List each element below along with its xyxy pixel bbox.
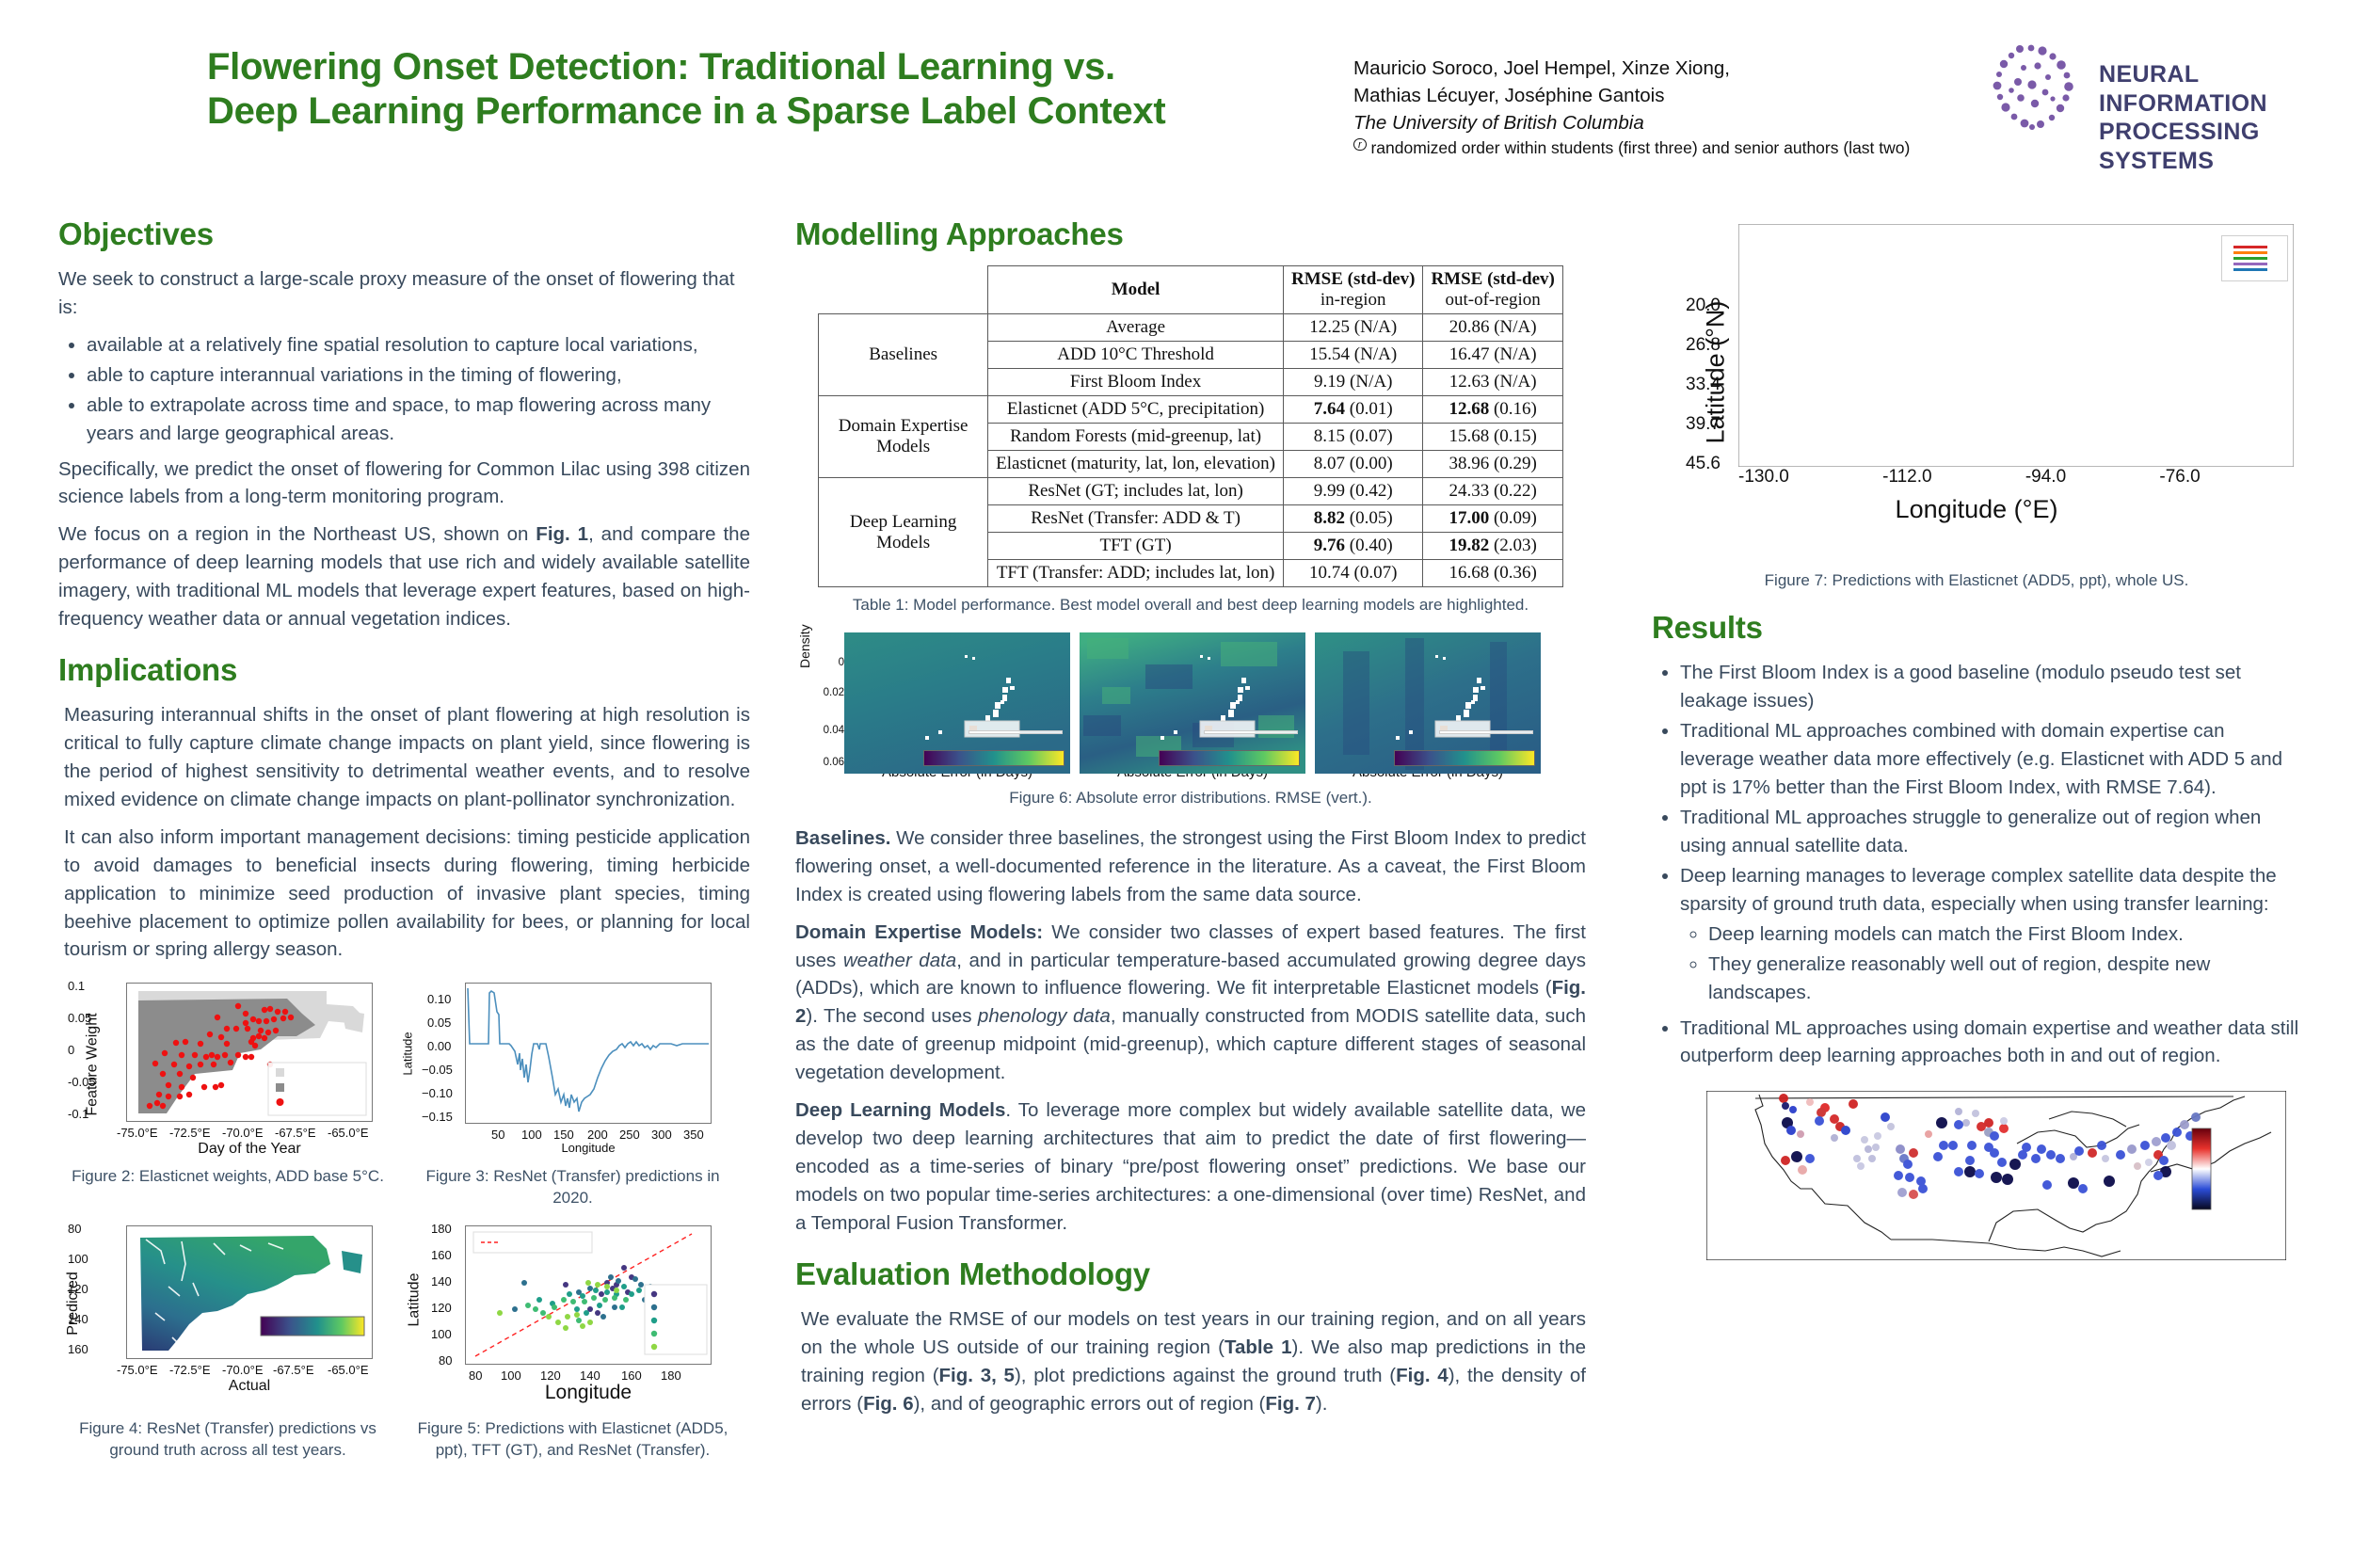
author-line-1: Mauricio Soroco, Joel Hempel, Xinze Xion… <box>1353 55 2012 82</box>
figure-row-2: Predicted 80 100 120 140 160 <box>58 1218 750 1416</box>
author-block: Mauricio Soroco, Joel Hempel, Xinze Xion… <box>1353 55 2012 160</box>
figure6-caption: Figure 7: Predictions with Elasticnet (A… <box>1652 570 2301 591</box>
list-item: They generalize reasonably well out of r… <box>1708 951 2301 1007</box>
table1-caption: Table 1: Model performance. Best model o… <box>795 595 1586 616</box>
table-cell-out-region: 17.00 (0.09) <box>1423 505 1562 533</box>
table-cell-model: ResNet (GT; includes lat, lon) <box>988 478 1284 505</box>
figure2-caption: Figure 3: ResNet (Transfer) predictions … <box>410 1166 735 1208</box>
list-item: Deep learning models can match the First… <box>1708 920 2301 949</box>
author-line-2: Mathias Lécuyer, Joséphine Gantois <box>1353 82 2012 109</box>
qr-code[interactable] <box>58 36 185 163</box>
table-cell-out-region: 16.68 (0.36) <box>1423 560 1562 587</box>
figure3-ytick: 140 <box>68 1312 88 1326</box>
neurips-dots-logo <box>1986 40 2089 143</box>
list-item: Traditional ML approaches combined with … <box>1680 717 2301 802</box>
poster-title-line2: Deep Learning Performance in a Sparse La… <box>207 89 1337 134</box>
list-item: able to extrapolate across time and spac… <box>87 392 750 448</box>
col-header-model: Model <box>988 266 1284 314</box>
table-cell-in-region: 12.25 (N/A) <box>1284 314 1423 342</box>
table-cell-out-region: 12.68 (0.16) <box>1423 396 1562 424</box>
table-cell-model: Average <box>988 314 1284 342</box>
figure5-colorbar-2 <box>1159 750 1300 766</box>
list-item: available at a relatively fine spatial r… <box>87 331 750 360</box>
table-cell-in-region: 7.64 (0.01) <box>1284 396 1423 424</box>
table-cell-model: Elasticnet (ADD 5°C, precipitation) <box>988 396 1284 424</box>
figure1-ytick: 0.05 <box>68 1011 91 1025</box>
figure1-ylabel: Feature Weight <box>85 1014 102 1116</box>
list-item: Traditional ML approaches using domain e… <box>1680 1015 2301 1071</box>
middle-column: Modelling Approaches Model RMSE (std-dev… <box>795 216 1586 1427</box>
figure1-plot-area <box>126 983 373 1122</box>
figure2-xlabel: Longitude <box>465 1141 712 1155</box>
figure5-panel3-image <box>1315 632 1541 774</box>
table-cell-model: TFT (Transfer: ADD; includes lat, lon) <box>988 560 1284 587</box>
figure1-ytick: -0.1 <box>68 1107 88 1121</box>
table-group-label: Domain Expertise Models <box>819 396 988 478</box>
figure5-panel-3: Absolute Error (in Days) <box>1315 632 1541 780</box>
figure6-legend <box>2221 235 2288 281</box>
table-cell-in-region: 8.82 (0.05) <box>1284 505 1423 533</box>
table-cell-out-region: 19.82 (2.03) <box>1423 533 1562 560</box>
figure6-ytick: 39.7 <box>1686 414 1721 435</box>
domain-expertise-paragraph: Domain Expertise Models: We consider two… <box>795 919 1586 1088</box>
figure4-ylabel: Latitude <box>406 1273 423 1327</box>
legend-item <box>2233 263 2276 265</box>
figure1-caption: Figure 2: Elasticnet weights, ADD base 5… <box>58 1166 397 1208</box>
table-row: BaselinesAverage12.25 (N/A)20.86 (N/A) <box>819 314 1563 342</box>
modelling-heading: Modelling Approaches <box>795 216 1586 252</box>
implications-heading: Implications <box>58 652 750 688</box>
neurips-line1: NEURAL INFORMATION <box>2099 60 2325 118</box>
evaluation-paragraph: We evaluate the RMSE of our models on te… <box>795 1305 1586 1418</box>
poster-header: Flowering Onset Detection: Traditional L… <box>0 0 2353 188</box>
evaluation-heading: Evaluation Methodology <box>795 1256 1586 1292</box>
figure-caption-row-2: Figure 4: ResNet (Transfer) predictions … <box>58 1414 750 1461</box>
objectives-paragraph-2: Specifically, we predict the onset of fl… <box>58 456 750 512</box>
figure7 <box>1652 1083 2301 1304</box>
figure6-ytick: 33.4 <box>1686 375 1721 395</box>
table-row: Domain Expertise ModelsElasticnet (ADD 5… <box>819 396 1563 424</box>
figure5-panel1-image <box>844 632 1070 774</box>
table-cell-model: TFT (GT) <box>988 533 1284 560</box>
list-item: Traditional ML approaches struggle to ge… <box>1680 804 2301 860</box>
figure6-plot-area <box>1738 224 2294 467</box>
figure6-ytick: 20.0 <box>1686 296 1721 316</box>
legend-item <box>2233 257 2276 260</box>
figure1-xlabel: Day of the Year <box>126 1141 373 1158</box>
table-header-row: Model RMSE (std-dev) in-region RMSE (std… <box>819 266 1563 314</box>
figure6-ytick: 45.6 <box>1686 454 1721 474</box>
figure1-ytick: 0.1 <box>68 979 85 993</box>
table-cell-out-region: 15.68 (0.15) <box>1423 424 1562 451</box>
objectives-bullet-list: available at a relatively fine spatial r… <box>58 331 750 448</box>
figure5-ytick: 0.06 <box>824 757 844 768</box>
figure5: Density 0 0.02 0.04 0.06 <box>795 632 1586 808</box>
page-title: Flowering Onset Detection: Traditional L… <box>207 45 1337 134</box>
figure3-ytick: 100 <box>68 1252 88 1266</box>
figure5-panel-2: Absolute Error (in Days) <box>1080 632 1305 780</box>
figure5-colorbar-3 <box>1394 750 1535 766</box>
table-cell-model: Elasticnet (maturity, lat, lon, elevatio… <box>988 451 1284 478</box>
list-item: Deep learning manages to leverage comple… <box>1680 862 2301 919</box>
table-cell-in-region: 8.15 (0.07) <box>1284 424 1423 451</box>
table-cell-model: ADD 10°C Threshold <box>988 342 1284 369</box>
figure2: Latitude 0.10 0.05 0.00 −0.05 −0.10 −0.1… <box>410 973 735 1161</box>
figure7-plot-area <box>1706 1091 2286 1260</box>
figure3-caption: Figure 4: ResNet (Transfer) predictions … <box>58 1418 397 1461</box>
legend-item <box>2233 268 2276 271</box>
figure1-ytick: 0 <box>68 1043 74 1057</box>
table-cell-out-region: 12.63 (N/A) <box>1423 369 1562 396</box>
figure-caption-row-1: Figure 2: Elasticnet weights, ADD base 5… <box>58 1161 750 1208</box>
figure3-ytick: 120 <box>68 1282 88 1296</box>
neurips-wordmark: NEURAL INFORMATION PROCESSING SYSTEMS <box>2099 60 2325 175</box>
neurips-logo-block: NEURAL INFORMATION PROCESSING SYSTEMS <box>1986 40 2325 143</box>
table1-wrapper: Model RMSE (std-dev) in-region RMSE (std… <box>795 265 1586 616</box>
table-row: Deep Learning ModelsResNet (GT; includes… <box>819 478 1563 505</box>
table-cell-in-region: 9.99 (0.42) <box>1284 478 1423 505</box>
table-cell-model: ResNet (Transfer: ADD & T) <box>988 505 1284 533</box>
table-cell-in-region: 15.54 (N/A) <box>1284 342 1423 369</box>
deep-learning-paragraph: Deep Learning Models. To leverage more c… <box>795 1096 1586 1238</box>
left-column: Objectives We seek to construct a large-… <box>58 216 750 1461</box>
figure4-xlabel: Longitude <box>465 1382 712 1404</box>
figure4-plot-area <box>465 1225 712 1365</box>
baselines-paragraph: Baselines. We consider three baselines, … <box>795 824 1586 909</box>
figure5-panel-1: Absolute Error (in Days) <box>844 632 1070 780</box>
table-group-label: Baselines <box>819 314 988 396</box>
col-header-in-region: RMSE (std-dev) in-region <box>1284 266 1423 314</box>
objectives-heading: Objectives <box>58 216 750 252</box>
table-cell-out-region: 16.47 (N/A) <box>1423 342 1562 369</box>
table-cell-in-region: 10.74 (0.07) <box>1284 560 1423 587</box>
results-heading: Results <box>1652 610 2301 646</box>
figure3-plot-area <box>126 1225 373 1359</box>
objectives-paragraph-1: We seek to construct a large-scale proxy… <box>58 265 750 322</box>
table-cell-out-region: 24.33 (0.22) <box>1423 478 1562 505</box>
figure3-ytick: 80 <box>68 1222 81 1236</box>
table-group-label: Deep Learning Models <box>819 478 988 587</box>
table-cell-in-region: 9.76 (0.40) <box>1284 533 1423 560</box>
poster-title-line1: Flowering Onset Detection: Traditional L… <box>207 45 1337 89</box>
figure4-caption: Figure 5: Predictions with Elasticnet (A… <box>410 1418 735 1461</box>
figure1-ytick: -0.05 <box>68 1075 96 1089</box>
figure2-ylabel: Latitude <box>401 1032 415 1076</box>
figure6: Latitude (°N) 20.0 26.8 33.4 39.7 45.6 -… <box>1652 216 2301 527</box>
affiliation: The University of British Columbia <box>1353 109 2012 136</box>
neurips-line2: PROCESSING SYSTEMS <box>2099 118 2325 175</box>
figure5-colorbar-1 <box>923 750 1064 766</box>
figure5-caption: Figure 6: Absolute error distributions. … <box>795 788 1586 808</box>
figure3: Predicted 80 100 120 140 160 <box>58 1218 397 1406</box>
figure5-ylabel: Density <box>797 625 812 669</box>
table-cell-in-region: 8.07 (0.00) <box>1284 451 1423 478</box>
figure5-ytick: 0.02 <box>824 687 844 698</box>
figure5-yticks: 0 0.02 0.04 0.06 <box>812 638 844 779</box>
figure3-xlabel: Actual <box>126 1378 373 1395</box>
list-item: The First Bloom Index is a good baseline… <box>1680 659 2301 715</box>
results-sub-bullet-list: Deep learning models can match the First… <box>1680 920 2301 1007</box>
figure1: Feature Weight 0.1 0.05 0 -0.05 -0.1 <box>58 973 397 1161</box>
figure4: Latitude 180 160 140 120 100 80 <box>410 1218 735 1416</box>
figure2-plot-area <box>465 983 712 1124</box>
legend-item <box>2233 246 2276 248</box>
objectives-paragraph-3: We focus on a region in the Northeast US… <box>58 520 750 633</box>
table-cell-model: First Bloom Index <box>988 369 1284 396</box>
table-cell-out-region: 38.96 (0.29) <box>1423 451 1562 478</box>
figure5-panel2-image <box>1080 632 1305 774</box>
right-column: Latitude (°N) 20.0 26.8 33.4 39.7 45.6 -… <box>1652 216 2301 1346</box>
author-footnote: r randomized order within students (firs… <box>1353 136 2012 160</box>
figure6-xticks: -130.0-112.0 -94.0-76.0 <box>1738 467 2294 488</box>
figure-row-1: Feature Weight 0.1 0.05 0 -0.05 -0.1 <box>58 973 750 1161</box>
list-item: able to capture interannual variations i… <box>87 361 750 390</box>
figure5-ytick: 0.04 <box>824 725 844 736</box>
col-header-out-region: RMSE (std-dev) out-of-region <box>1423 266 1562 314</box>
implications-paragraph-2: It can also inform important management … <box>58 824 750 965</box>
table-cell-model: Random Forests (mid-greenup, lat) <box>988 424 1284 451</box>
table1: Model RMSE (std-dev) in-region RMSE (std… <box>818 265 1563 587</box>
implications-paragraph-1: Measuring interannual shifts in the onse… <box>58 701 750 814</box>
legend-item <box>2233 251 2276 254</box>
figure6-ytick: 26.8 <box>1686 335 1721 356</box>
table-cell-in-region: 9.19 (N/A) <box>1284 369 1423 396</box>
figure6-xlabel: Longitude (°E) <box>1652 495 2301 524</box>
figure3-ytick: 160 <box>68 1342 88 1356</box>
table-cell-out-region: 20.86 (N/A) <box>1423 314 1562 342</box>
results-bullet-list: The First Bloom Index is a good baseline… <box>1652 659 2301 1070</box>
